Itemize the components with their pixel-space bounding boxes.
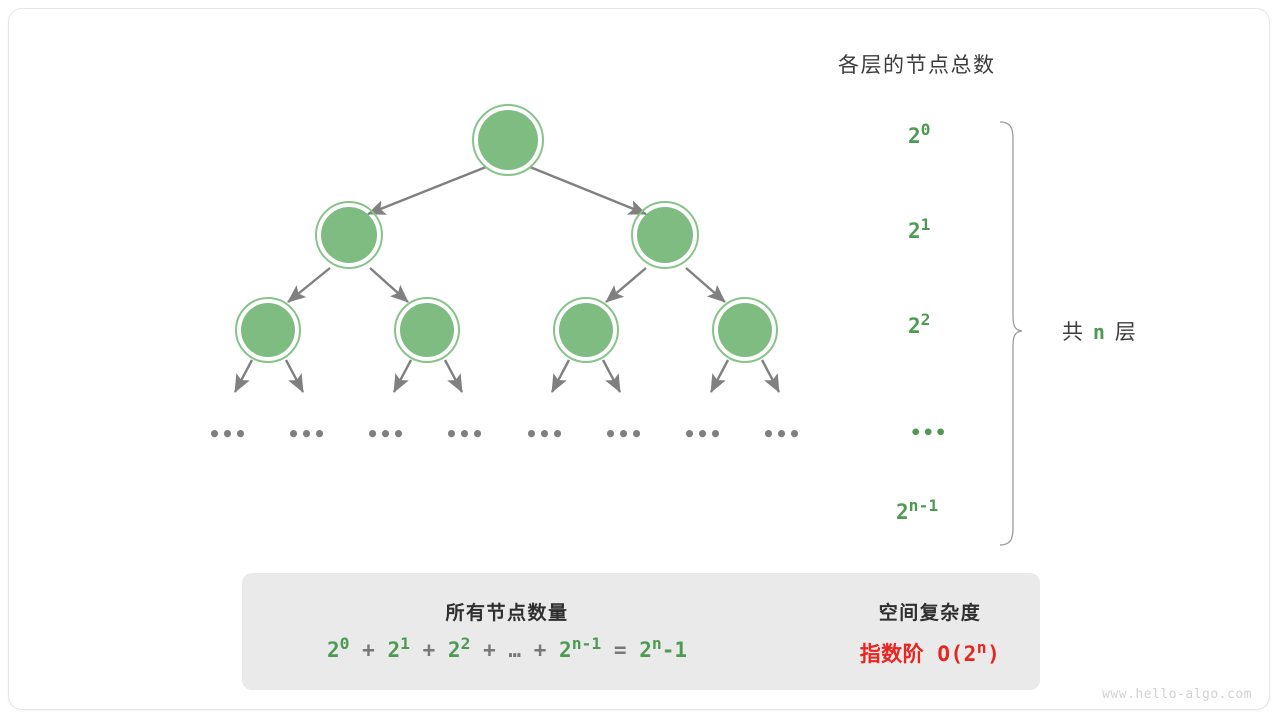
diagram-canvas: 各层的节点总数 20 21 22 ••• 2n-1 共 n 层 ••• ••• … xyxy=(0,0,1280,720)
level-label-1: 21 xyxy=(908,219,931,243)
formula-term4-base: 2 xyxy=(559,638,572,662)
total-levels-suffix: 层 xyxy=(1115,321,1138,344)
tree-nodes xyxy=(236,105,777,362)
level-label-last-exp: n-1 xyxy=(909,496,939,515)
summary-left-heading: 所有节点数量 xyxy=(262,598,752,625)
formula-ellipsis: … xyxy=(508,638,521,662)
level-label-2-base: 2 xyxy=(908,314,921,338)
tree-node[interactable] xyxy=(316,202,382,268)
tree-node[interactable] xyxy=(473,105,543,175)
complexity-expr-sup: n xyxy=(977,638,987,657)
summary-left: 所有节点数量 20 + 21 + 22 + … + 2n-1 = 2n-1 xyxy=(262,598,752,662)
formula-equals: = xyxy=(614,638,627,662)
formula-term4-exp: n-1 xyxy=(572,634,602,653)
level-label-0-base: 2 xyxy=(908,124,921,148)
leaf-ellipsis: ••• xyxy=(762,422,801,446)
level-label-1-base: 2 xyxy=(908,219,921,243)
complexity-expression: O(2n) xyxy=(937,642,1000,666)
formula-term3-base: 2 xyxy=(448,638,461,662)
level-label-last: 2n-1 xyxy=(896,500,938,524)
tree-node[interactable] xyxy=(395,298,459,362)
formula-result-exp: n xyxy=(652,634,662,653)
leaf-ellipsis: ••• xyxy=(366,422,405,446)
total-levels-variable: n xyxy=(1093,320,1107,344)
formula-term2-exp: 1 xyxy=(400,634,410,653)
formula-plus-2: + xyxy=(423,638,436,662)
level-label-last-base: 2 xyxy=(896,500,909,524)
tree-node[interactable] xyxy=(632,202,698,268)
formula-result-base: 2 xyxy=(639,638,652,662)
formula-term3-exp: 2 xyxy=(461,634,471,653)
page-title: 各层的节点总数 xyxy=(838,49,996,79)
tree-edges xyxy=(235,167,779,392)
total-levels-prefix: 共 xyxy=(1062,321,1085,344)
tree-node[interactable] xyxy=(713,298,777,362)
total-levels-caption: 共 n 层 xyxy=(1062,316,1138,346)
complexity-expr-pre: O(2 xyxy=(937,642,976,666)
level-label-2-exp: 2 xyxy=(921,310,931,329)
tree-node[interactable] xyxy=(554,298,618,362)
formula-plus-1: + xyxy=(362,638,375,662)
watermark: www.hello-algo.com xyxy=(1102,687,1252,702)
level-brace xyxy=(1000,122,1022,545)
leaf-ellipsis: ••• xyxy=(525,422,564,446)
formula-plus-4: + xyxy=(534,638,547,662)
summary-formula: 20 + 21 + 22 + … + 2n-1 = 2n-1 xyxy=(262,638,752,662)
summary-right: 空间复杂度 指数阶 O(2n) xyxy=(830,598,1030,668)
leaf-ellipsis: ••• xyxy=(287,422,326,446)
level-label-0-exp: 0 xyxy=(921,120,931,139)
leaf-ellipsis: ••• xyxy=(604,422,643,446)
formula-term2-base: 2 xyxy=(387,638,400,662)
formula-term1-base: 2 xyxy=(327,638,340,662)
complexity-order-label: 指数阶 xyxy=(860,642,925,666)
leaf-ellipsis: ••• xyxy=(683,422,722,446)
complexity-expr-post: ) xyxy=(987,642,1000,666)
formula-term1-exp: 0 xyxy=(340,634,350,653)
leaf-ellipsis: ••• xyxy=(445,422,484,446)
level-label-ellipsis: ••• xyxy=(910,422,947,444)
level-label-0: 20 xyxy=(908,124,931,148)
summary-right-heading: 空间复杂度 xyxy=(830,598,1030,625)
formula-result-tail: -1 xyxy=(662,638,687,662)
leaf-ellipsis: ••• xyxy=(208,422,247,446)
formula-plus-3: + xyxy=(483,638,496,662)
level-label-1-exp: 1 xyxy=(921,215,931,234)
level-label-2: 22 xyxy=(908,314,931,338)
tree-node[interactable] xyxy=(236,298,300,362)
complexity-value: 指数阶 O(2n) xyxy=(830,638,1030,668)
